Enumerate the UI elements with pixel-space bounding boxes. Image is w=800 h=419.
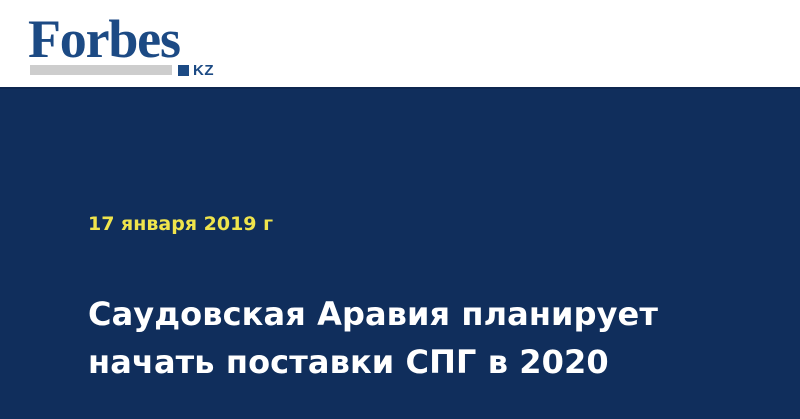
hero-panel: 17 января 2019 г Саудовская Аравия плани…	[0, 87, 800, 419]
article-date: 17 января 2019 г	[88, 213, 273, 235]
forbes-kz-logo[interactable]: Forbes KZ	[28, 12, 228, 76]
logo-square-icon	[178, 65, 189, 76]
logo-gray-bar	[30, 65, 172, 75]
hero-top-divider	[0, 87, 800, 89]
site-masthead: Forbes KZ	[0, 0, 800, 87]
logo-kz-suffix: KZ	[193, 63, 214, 78]
logo-underrow: KZ	[30, 63, 228, 77]
article-hero-page: Forbes KZ 17 января 2019 г Саудовская Ар…	[0, 0, 800, 419]
article-headline: Саудовская Аравия планирует начать поста…	[88, 290, 688, 386]
forbes-wordmark: Forbes	[28, 12, 180, 66]
